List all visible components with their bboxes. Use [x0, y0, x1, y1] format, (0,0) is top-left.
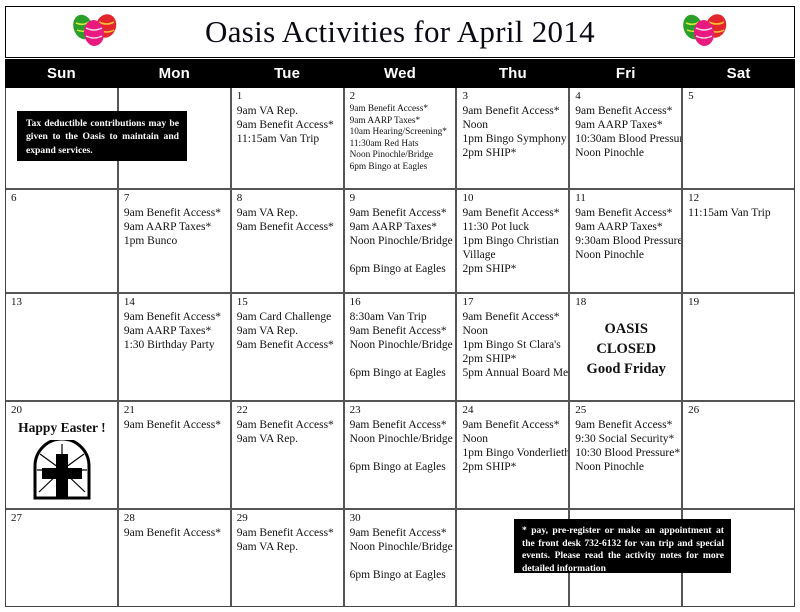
- day-events: 9am Benefit Access*11:30 Pot luck1pm Bin…: [462, 206, 564, 276]
- event-item: 9am Benefit Access*: [350, 104, 452, 116]
- event-item: 9am Benefit Access*: [237, 338, 339, 352]
- event-item: 9am AARP Taxes*: [124, 220, 226, 234]
- day-cell-28[interactable]: 289am Benefit Access*: [119, 510, 232, 606]
- day-number: 11: [575, 192, 677, 205]
- event-item: Noon: [462, 118, 564, 132]
- event-spacer: [350, 352, 452, 366]
- event-item: 9am Benefit Access*: [462, 310, 564, 324]
- day-events: 9am Benefit Access*9am AARP Taxes*10:30a…: [575, 104, 677, 160]
- event-item: 10:30 Blood Pressure*: [575, 446, 677, 460]
- event-item: 9:30 Social Security*: [575, 432, 677, 446]
- event-item: 6pm Bingo at Eagles: [350, 366, 452, 380]
- cross-window-icon: [31, 440, 93, 500]
- event-item: 8:30am Van Trip: [350, 310, 452, 324]
- day-events: 9am Benefit Access*9am VA Rep.: [237, 526, 339, 554]
- event-item: 5pm Annual Board Meeting: [462, 366, 564, 380]
- weekday-header: Sun Mon Tue Wed Thu Fri Sat: [5, 59, 795, 88]
- event-item: 9am Card Challenge: [237, 310, 339, 324]
- day-cell-27[interactable]: 27: [6, 510, 119, 606]
- event-item: 2pm SHIP*: [462, 262, 564, 276]
- day-number: 28: [124, 512, 226, 525]
- day-cell-12[interactable]: 1211:15am Van Trip: [683, 190, 794, 292]
- calendar-week-row: 20Happy Easter !219am Benefit Access*229…: [6, 402, 794, 510]
- event-item: 9am Benefit Access*: [237, 526, 339, 540]
- weekday-sun: Sun: [5, 59, 118, 88]
- event-item: Noon Pinochle/Bridge: [350, 540, 452, 554]
- event-item: Noon: [462, 324, 564, 338]
- day-number: 17: [462, 296, 564, 309]
- day-number: 6: [11, 192, 113, 205]
- event-item: 1pm Bingo Christian: [462, 234, 564, 248]
- event-item: 9am Benefit Access*: [124, 418, 226, 432]
- event-item: 9am Benefit Access*: [462, 418, 564, 432]
- weekday-fri: Fri: [569, 59, 682, 88]
- day-cell-20[interactable]: 20Happy Easter !: [6, 402, 119, 508]
- calendar-week-row: 13149am Benefit Access*9am AARP Taxes*1:…: [6, 294, 794, 402]
- day-cell-17[interactable]: 179am Benefit Access*Noon1pm Bingo St Cl…: [457, 294, 570, 400]
- event-spacer: [350, 554, 452, 568]
- event-item: 9am Benefit Access*: [462, 104, 564, 118]
- day-number: 8: [237, 192, 339, 205]
- event-item: 1:30 Birthday Party: [124, 338, 226, 352]
- event-item: 2pm SHIP*: [462, 352, 564, 366]
- easter-eggs-icon: [678, 13, 736, 47]
- event-item: 9:30am Blood Pressure: [575, 234, 677, 248]
- day-cell-29[interactable]: 299am Benefit Access*9am VA Rep.: [232, 510, 345, 606]
- day-number: 20: [11, 404, 113, 417]
- event-item: 6pm Bingo at Eagles: [350, 262, 452, 276]
- event-item: 9am AARP Taxes*: [350, 116, 452, 128]
- day-number: 1: [237, 90, 339, 103]
- day-events: 9am Benefit Access*9am AARP Taxes*10am H…: [350, 104, 452, 174]
- day-number: 12: [688, 192, 790, 205]
- day-events: 9am Benefit Access*9am AARP Taxes*Noon P…: [350, 206, 452, 276]
- calendar-page: Oasis Activities for April 2014 Sun Mon …: [0, 0, 800, 612]
- event-item: 9am VA Rep.: [237, 324, 339, 338]
- event-item: 9am Benefit Access*: [350, 418, 452, 432]
- event-item: 6pm Bingo at Eagles: [350, 568, 452, 582]
- day-cell-19[interactable]: 19: [683, 294, 794, 400]
- event-item: 1pm Bunco: [124, 234, 226, 248]
- day-events: 9am Benefit Access*Noon Pinochle/Bridge6…: [350, 418, 452, 474]
- day-events: 9am Benefit Access*9am AARP Taxes*1pm Bu…: [124, 206, 226, 248]
- day-events: 9am Benefit Access*Noon1pm Bingo Vonderl…: [462, 418, 564, 474]
- day-cell-30[interactable]: 309am Benefit Access*Noon Pinochle/Bridg…: [345, 510, 458, 606]
- event-spacer: [350, 446, 452, 460]
- day-cell-26[interactable]: 26: [683, 402, 794, 508]
- day-cell-3[interactable]: 39am Benefit Access*Noon1pm Bingo Sympho…: [457, 88, 570, 188]
- day-cell-18[interactable]: 18OASIS CLOSEDGood Friday: [570, 294, 683, 400]
- event-item: Noon Pinochle: [575, 460, 677, 474]
- event-item: 9am AARP Taxes*: [575, 220, 677, 234]
- event-item: 9am AARP Taxes*: [575, 118, 677, 132]
- day-number: 15: [237, 296, 339, 309]
- page-title: Oasis Activities for April 2014: [205, 14, 595, 50]
- event-item: 9am VA Rep.: [237, 206, 339, 220]
- day-cell-8[interactable]: 89am VA Rep.9am Benefit Access*: [232, 190, 345, 292]
- day-number: 19: [688, 296, 790, 309]
- day-events: 9am VA Rep.9am Benefit Access*11:15am Va…: [237, 104, 339, 146]
- event-item: 1pm Bingo Vonderlieth: [462, 446, 564, 460]
- event-item: Village: [462, 248, 564, 262]
- event-item: 9am AARP Taxes*: [350, 220, 452, 234]
- event-item: Noon Pinochle/Bridge: [350, 338, 452, 352]
- day-number: 18: [575, 296, 677, 309]
- day-events: 9am Benefit Access*: [124, 418, 226, 432]
- closed-notice: OASIS CLOSED: [575, 319, 677, 359]
- day-cell-11[interactable]: 119am Benefit Access*9am AARP Taxes*9:30…: [570, 190, 683, 292]
- calendar-week-row: 679am Benefit Access*9am AARP Taxes*1pm …: [6, 190, 794, 294]
- day-cell-23[interactable]: 239am Benefit Access*Noon Pinochle/Bridg…: [345, 402, 458, 508]
- day-events: 9am Benefit Access*9am AARP Taxes*9:30am…: [575, 206, 677, 262]
- day-events: 9am VA Rep.9am Benefit Access*: [237, 206, 339, 234]
- closed-notice-reason: Good Friday: [575, 359, 677, 379]
- event-item: Noon Pinochle: [575, 248, 677, 262]
- day-number: 29: [237, 512, 339, 525]
- day-cell-22[interactable]: 229am Benefit Access*9am VA Rep.: [232, 402, 345, 508]
- event-item: 6pm Bingo at Eagles: [350, 162, 452, 174]
- event-item: 11:30am Red Hats: [350, 139, 452, 151]
- day-cell-5[interactable]: 5: [683, 88, 794, 188]
- event-item: Noon Pinochle/Bridge: [350, 150, 452, 162]
- asterisk-footnote-note: * pay, pre-register or make an appointme…: [514, 519, 731, 573]
- easter-eggs-icon: [68, 13, 126, 47]
- day-cell-24[interactable]: 249am Benefit Access*Noon1pm Bingo Vonde…: [457, 402, 570, 508]
- day-number: 24: [462, 404, 564, 417]
- day-number: 14: [124, 296, 226, 309]
- event-item: 9am Benefit Access*: [237, 220, 339, 234]
- day-number: 10: [462, 192, 564, 205]
- tax-deductible-note: Tax deductible contributions may be give…: [17, 111, 187, 161]
- weekday-thu: Thu: [456, 59, 569, 88]
- day-number: 16: [350, 296, 452, 309]
- event-spacer: [350, 248, 452, 262]
- event-item: 11:15am Van Trip: [237, 132, 339, 146]
- day-events: 9am Benefit Access*: [124, 526, 226, 540]
- day-events: 9am Benefit Access*Noon1pm Bingo St Clar…: [462, 310, 564, 380]
- day-events: 9am Benefit Access*9am VA Rep.: [237, 418, 339, 446]
- day-events: 9am Benefit Access*9:30 Social Security*…: [575, 418, 677, 474]
- day-events: 8:30am Van Trip9am Benefit Access*Noon P…: [350, 310, 452, 380]
- event-item: 1pm Bingo Symphony: [462, 132, 564, 146]
- day-number: 22: [237, 404, 339, 417]
- event-item: 9am Benefit Access*: [350, 526, 452, 540]
- day-number: 25: [575, 404, 677, 417]
- event-item: 9am Benefit Access*: [124, 310, 226, 324]
- day-number: 4: [575, 90, 677, 103]
- day-cell-13[interactable]: 13: [6, 294, 119, 400]
- day-cell-16[interactable]: 168:30am Van Trip9am Benefit Access*Noon…: [345, 294, 458, 400]
- happy-easter-note: Happy Easter !: [11, 420, 113, 436]
- event-item: Noon Pinochle/Bridge: [350, 432, 452, 446]
- day-cell-7[interactable]: 79am Benefit Access*9am AARP Taxes*1pm B…: [119, 190, 232, 292]
- day-number: 2: [350, 90, 452, 103]
- event-item: 9am AARP Taxes*: [124, 324, 226, 338]
- event-item: 9am Benefit Access*: [237, 118, 339, 132]
- weekday-sat: Sat: [682, 59, 795, 88]
- day-cell-6[interactable]: 6: [6, 190, 119, 292]
- day-cell-1[interactable]: 19am VA Rep.9am Benefit Access*11:15am V…: [232, 88, 345, 188]
- event-item: 6pm Bingo at Eagles: [350, 460, 452, 474]
- day-number: 21: [124, 404, 226, 417]
- day-cell-9[interactable]: 99am Benefit Access*9am AARP Taxes*Noon …: [345, 190, 458, 292]
- day-cell-14[interactable]: 149am Benefit Access*9am AARP Taxes*1:30…: [119, 294, 232, 400]
- event-item: Noon Pinochle/Bridge: [350, 234, 452, 248]
- event-item: 9am Benefit Access*: [237, 418, 339, 432]
- day-cell-25[interactable]: 259am Benefit Access*9:30 Social Securit…: [570, 402, 683, 508]
- event-item: 11:30 Pot luck: [462, 220, 564, 234]
- event-item: 2pm SHIP*: [462, 460, 564, 474]
- day-number: 7: [124, 192, 226, 205]
- day-events: 9am Benefit Access*Noon1pm Bingo Symphon…: [462, 104, 564, 160]
- day-cell-21[interactable]: 219am Benefit Access*: [119, 402, 232, 508]
- day-events: 11:15am Van Trip: [688, 206, 790, 220]
- event-item: 9am Benefit Access*: [575, 206, 677, 220]
- day-number: 26: [688, 404, 790, 417]
- event-item: 11:15am Van Trip: [688, 206, 790, 220]
- event-item: 9am Benefit Access*: [124, 206, 226, 220]
- event-item: 9am Benefit Access*: [575, 104, 677, 118]
- event-item: 9am VA Rep.: [237, 540, 339, 554]
- day-number: 9: [350, 192, 452, 205]
- day-number: 13: [11, 296, 113, 309]
- weekday-wed: Wed: [344, 59, 457, 88]
- day-cell-2[interactable]: 29am Benefit Access*9am AARP Taxes*10am …: [345, 88, 458, 188]
- day-number: 27: [11, 512, 113, 525]
- weekday-mon: Mon: [118, 59, 231, 88]
- event-item: Noon Pinochle: [575, 146, 677, 160]
- day-events: 9am Benefit Access*9am AARP Taxes*1:30 B…: [124, 310, 226, 352]
- event-item: 9am Benefit Access*: [575, 418, 677, 432]
- day-cell-10[interactable]: 109am Benefit Access*11:30 Pot luck1pm B…: [457, 190, 570, 292]
- event-item: 9am Benefit Access*: [462, 206, 564, 220]
- day-events: 9am Benefit Access*Noon Pinochle/Bridge6…: [350, 526, 452, 582]
- event-item: 9am Benefit Access*: [350, 324, 452, 338]
- event-item: 2pm SHIP*: [462, 146, 564, 160]
- day-number: 5: [688, 90, 790, 103]
- event-item: 9am VA Rep.: [237, 432, 339, 446]
- day-cell-4[interactable]: 49am Benefit Access*9am AARP Taxes*10:30…: [570, 88, 683, 188]
- day-number: 3: [462, 90, 564, 103]
- day-number: 30: [350, 512, 452, 525]
- event-item: 9am Benefit Access*: [350, 206, 452, 220]
- event-item: 10:30am Blood Pressure: [575, 132, 677, 146]
- event-item: 1pm Bingo St Clara's: [462, 338, 564, 352]
- day-cell-15[interactable]: 159am Card Challenge9am VA Rep.9am Benef…: [232, 294, 345, 400]
- event-item: 10am Hearing/Screening*: [350, 127, 452, 139]
- event-item: Noon: [462, 432, 564, 446]
- event-item: 9am VA Rep.: [237, 104, 339, 118]
- weekday-tue: Tue: [231, 59, 344, 88]
- event-item: 9am Benefit Access*: [124, 526, 226, 540]
- day-events: 9am Card Challenge9am VA Rep.9am Benefit…: [237, 310, 339, 352]
- day-number: 23: [350, 404, 452, 417]
